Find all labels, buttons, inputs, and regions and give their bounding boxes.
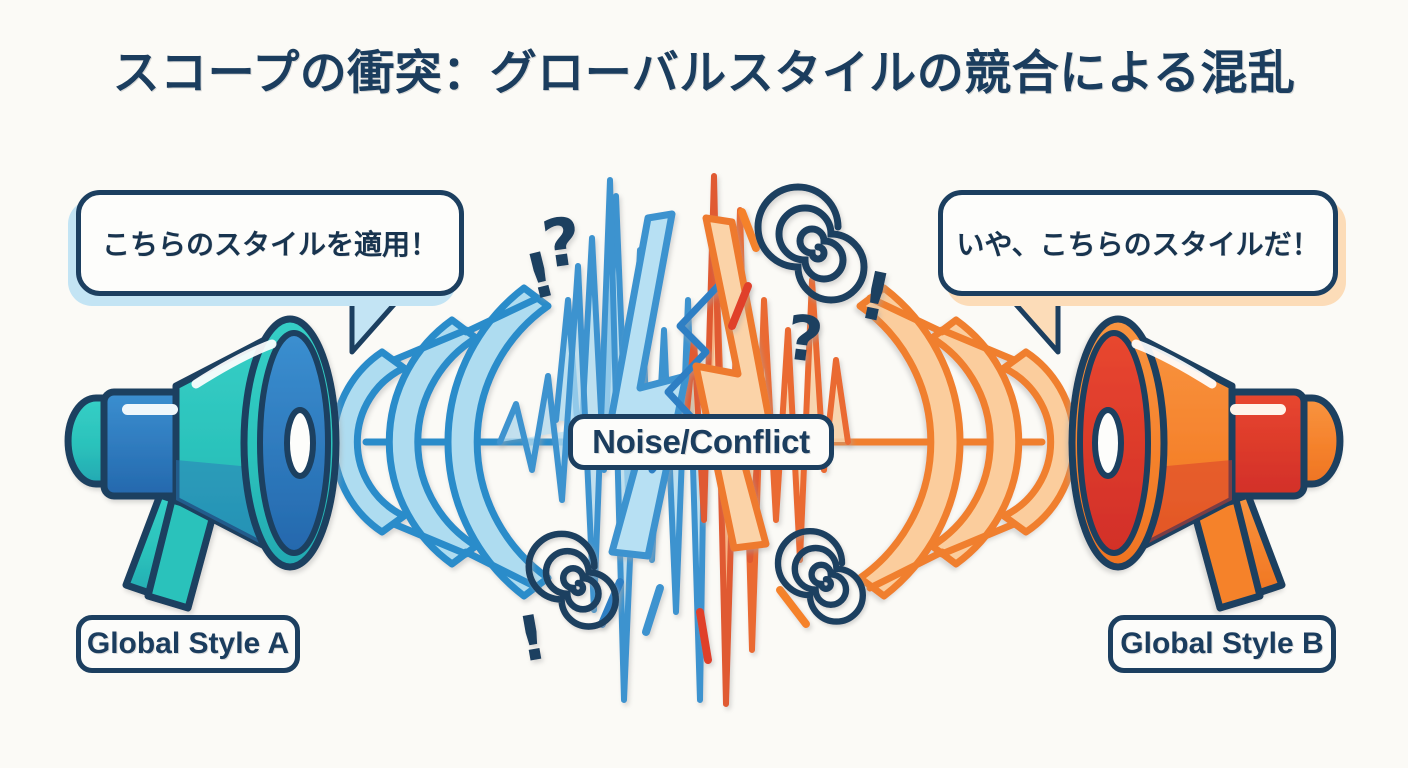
- diagram-canvas: ? ! ? ! !: [0, 0, 1408, 768]
- speech-bubble-left: こちらのスタイルを適用！: [76, 190, 464, 296]
- page-title: スコープの衝突：グローバルスタイルの競合による混乱: [0, 34, 1408, 103]
- exclamation-mark: !: [512, 600, 553, 677]
- label-global-style-b: Global Style B: [1108, 615, 1336, 673]
- megaphone-icon-right: [1072, 319, 1340, 608]
- lightning-bolt-orange: [696, 218, 776, 548]
- speech-bubble-right: いや、こちらのスタイルだ！: [938, 190, 1338, 296]
- megaphone-icon-left: [68, 319, 336, 608]
- noise-conflict-chip: Noise/Conflict: [568, 414, 834, 470]
- label-global-style-a: Global Style A: [76, 615, 300, 673]
